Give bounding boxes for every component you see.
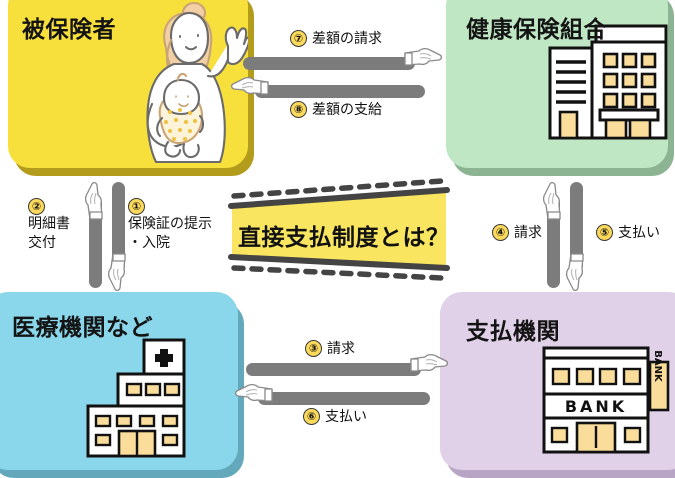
arrow-text-step3: 請求 bbox=[327, 338, 355, 358]
arrow-label-step4: ④ 請求 bbox=[492, 222, 542, 242]
pointing-hand-left-icon-step6 bbox=[234, 382, 274, 408]
arrow-text-step8: 差額の支給 bbox=[312, 99, 382, 119]
badge-step4: ④ bbox=[492, 224, 509, 241]
panel-medical-label: 医療機関など bbox=[12, 308, 153, 342]
arrow-label-step6: ⑥ 支払い bbox=[303, 406, 367, 426]
panel-payment: 支払機関 BANK BANK bbox=[440, 292, 675, 470]
pointing-hand-left-icon-step8 bbox=[230, 75, 270, 101]
center-banner: 直接支払制度とは？ bbox=[228, 178, 450, 282]
arrow-label-step8: ⑧ 差額の支給 bbox=[290, 99, 382, 119]
arrow-step8-bar bbox=[255, 85, 425, 98]
arrow-label-step1: ① 保険証の提示 ・入院 bbox=[128, 198, 212, 252]
pointing-hand-up-icon-step2 bbox=[83, 181, 109, 221]
arrow-text-step4: 請求 bbox=[514, 222, 542, 242]
pointing-hand-right-icon-step3 bbox=[409, 352, 449, 378]
arrow-step3-bar bbox=[246, 363, 421, 376]
badge-step8: ⑧ bbox=[290, 101, 307, 118]
badge-step3: ③ bbox=[305, 340, 322, 357]
arrow-text-step5: 支払い bbox=[618, 222, 660, 242]
arrow-label-step2: ② 明細書 交付 bbox=[28, 198, 70, 252]
arrow-text-step1-line2: ・入院 bbox=[128, 235, 170, 253]
arrow-text-step2-line2: 交付 bbox=[28, 235, 56, 253]
panel-kenpo: 健康保険組合 bbox=[446, 0, 668, 168]
arrow-label-step5: ⑤ 支払い bbox=[596, 222, 660, 242]
bank-side-sign-text: BANK bbox=[652, 350, 663, 383]
hospital-building-illustration bbox=[72, 338, 212, 460]
panel-kenpo-label: 健康保険組合 bbox=[466, 10, 607, 44]
panel-insured: 被保険者 bbox=[8, 0, 248, 168]
arrow-text-step1-line1: 保険証の提示 bbox=[128, 216, 212, 234]
panel-insured-label: 被保険者 bbox=[22, 10, 116, 44]
arrow-text-step6: 支払い bbox=[325, 406, 367, 426]
arrow-label-step7: ⑦ 差額の請求 bbox=[290, 28, 382, 48]
badge-step1: ① bbox=[128, 198, 145, 215]
panel-payment-label: 支払機関 bbox=[466, 312, 560, 346]
arrow-step6-bar bbox=[258, 392, 430, 405]
pointing-hand-down-icon-step1 bbox=[106, 252, 132, 292]
pointing-hand-up-icon-step4 bbox=[541, 181, 567, 221]
mother-and-baby-illustration bbox=[116, 0, 248, 166]
panel-medical: 医療機関など bbox=[0, 292, 238, 470]
arrow-text-step7: 差額の請求 bbox=[312, 28, 382, 48]
banner-title: 直接支払制度とは？ bbox=[238, 218, 443, 252]
arrow-text-step2-line1: 明細書 bbox=[28, 216, 70, 234]
arrow-label-step3: ③ 請求 bbox=[305, 338, 355, 358]
badge-step7: ⑦ bbox=[290, 30, 307, 47]
banner-bottom-dashes bbox=[234, 268, 442, 278]
pointing-hand-right-icon-step7 bbox=[403, 46, 443, 72]
badge-step5: ⑤ bbox=[596, 224, 613, 241]
badge-step2: ② bbox=[28, 198, 45, 215]
arrow-step7-bar bbox=[243, 57, 415, 70]
bank-sign-text: BANK bbox=[565, 397, 627, 416]
pointing-hand-down-icon-step5 bbox=[564, 252, 590, 292]
bank-building-illustration: BANK BANK bbox=[540, 344, 675, 456]
badge-step6: ⑥ bbox=[303, 408, 320, 425]
